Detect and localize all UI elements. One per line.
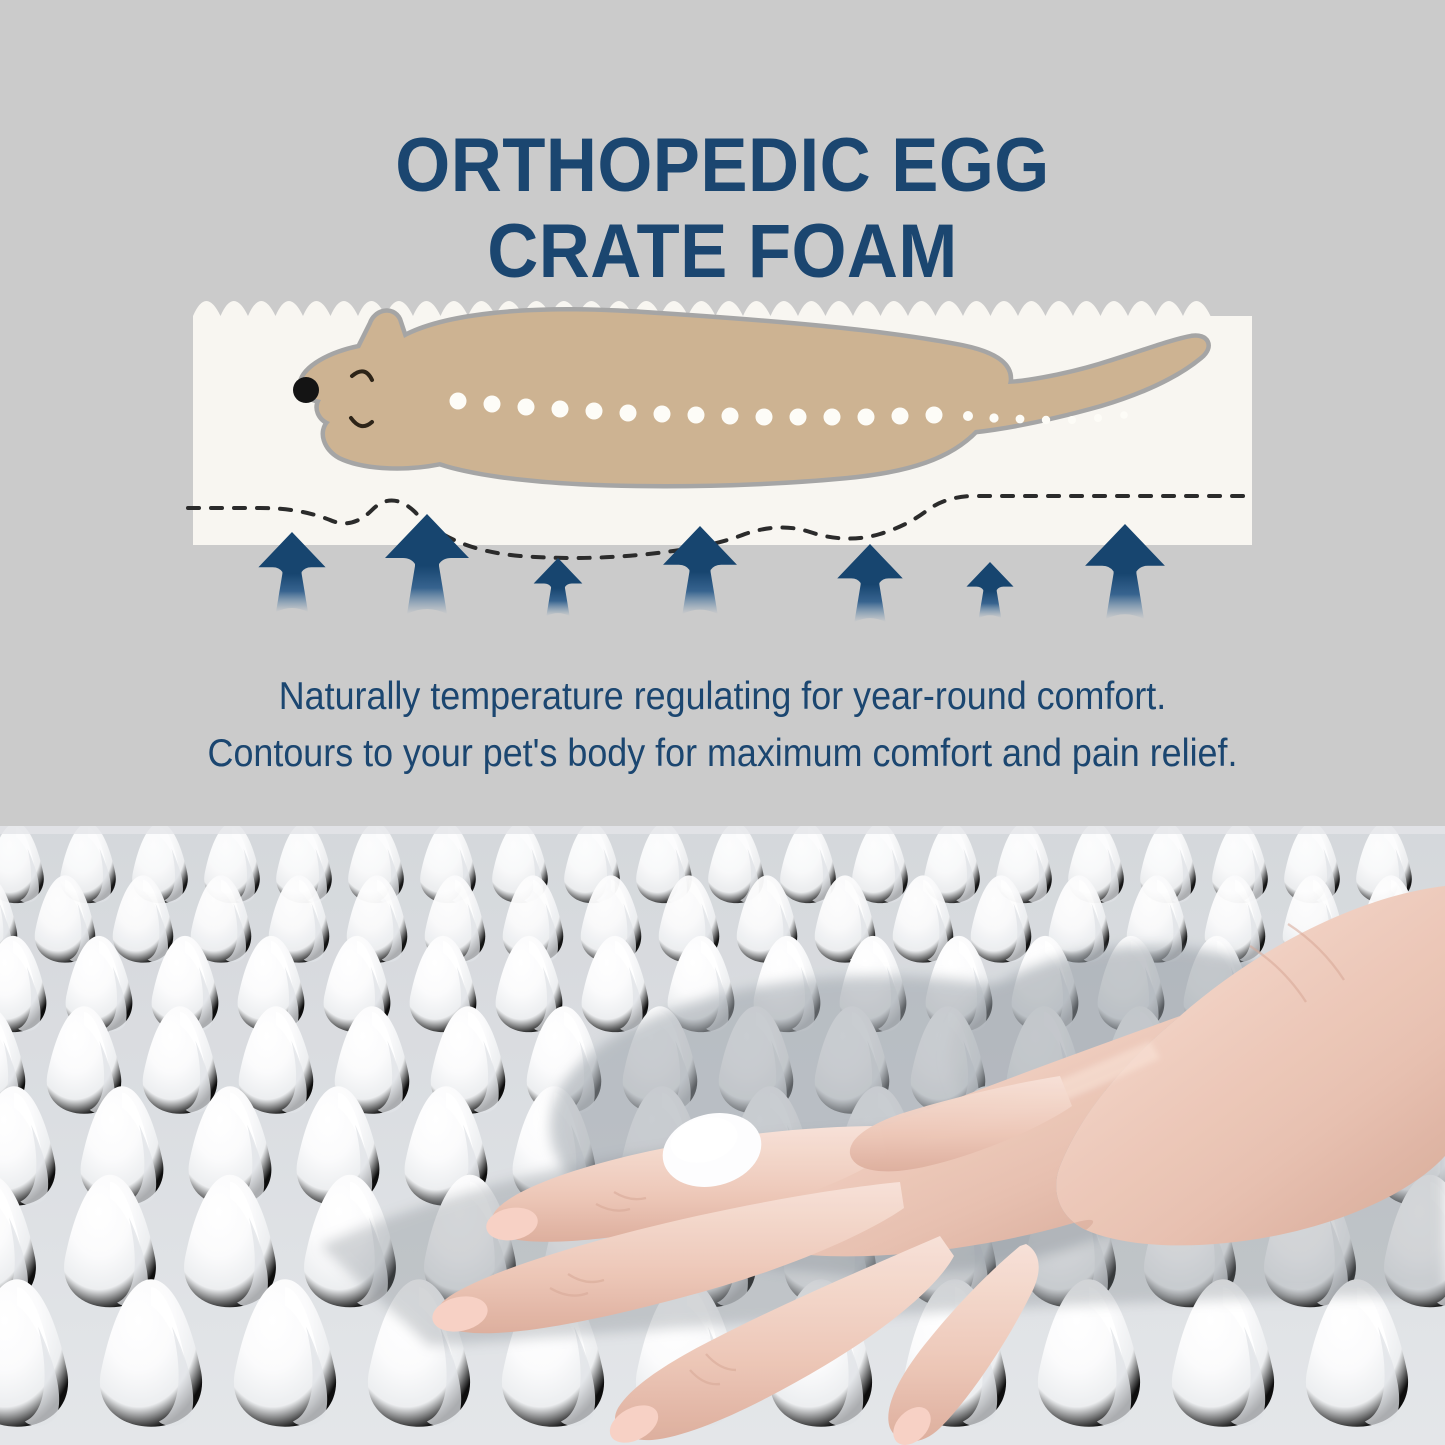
foam-support-illustration [0,280,1445,660]
caption-line-1: Naturally temperature regulating for yea… [58,668,1387,725]
caption-line-2: Contours to your pet's body for maximum … [58,725,1387,782]
hand-pressing-foam-photo [0,826,1445,1445]
dog-nose [293,377,319,403]
foam-photo-panel [0,826,1445,1445]
support-arrow [837,544,903,622]
support-arrow [966,562,1013,618]
page-title: ORTHOPEDIC EGG CRATE FOAM [51,123,1395,295]
caption-block: Naturally temperature regulating for yea… [58,668,1387,782]
support-arrow [534,558,583,616]
product-infographic-page: ORTHOPEDIC EGG CRATE FOAM [0,0,1445,1445]
infographic-panel: ORTHOPEDIC EGG CRATE FOAM [0,0,1445,826]
